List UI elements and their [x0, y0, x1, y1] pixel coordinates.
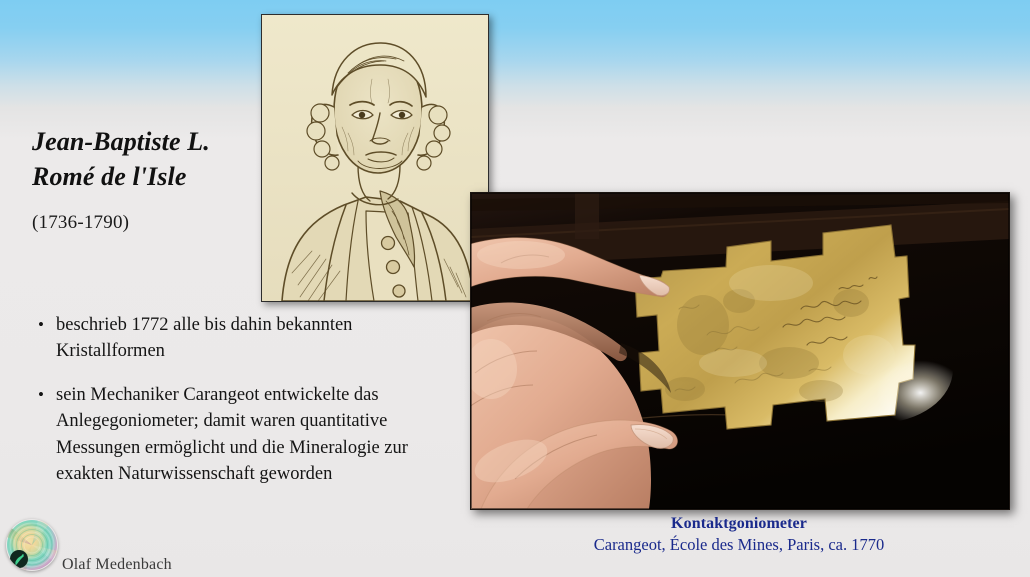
page-title-line1: Jean-Baptiste L.: [32, 124, 292, 159]
photo-caption: Kontaktgoniometer Carangeot, École des M…: [470, 513, 1008, 556]
list-item: • beschrieb 1772 alle bis dahin bekannte…: [34, 312, 434, 365]
logo-graphic: [6, 519, 58, 571]
list-item: • sein Mechaniker Carangeot entwickelte …: [34, 382, 434, 488]
caption-subtitle: Carangeot, École des Mines, Paris, ca. 1…: [470, 534, 1008, 556]
portrait-image: [261, 14, 489, 302]
goniometer-photo: [470, 192, 1010, 510]
caption-title: Kontaktgoniometer: [470, 513, 1008, 534]
list-item-text: sein Mechaniker Carangeot entwickelte da…: [56, 385, 408, 484]
bullet-marker-icon: •: [38, 383, 44, 407]
bullet-list: • beschrieb 1772 alle bis dahin bekannte…: [34, 312, 434, 505]
author-name: Olaf Medenbach: [62, 556, 172, 574]
list-item-text: beschrieb 1772 alle bis dahin bekannten …: [56, 315, 352, 361]
lifespan-text: (1736-1790): [32, 212, 129, 234]
page-title: Jean-Baptiste L. Romé de l'Isle: [32, 124, 292, 195]
slide: Jean-Baptiste L. Romé de l'Isle (1736-17…: [0, 0, 1030, 577]
goniometer-illustration: [471, 193, 1009, 509]
portrait-illustration: [262, 15, 488, 301]
interference-figure-logo-icon: [6, 519, 58, 571]
page-title-line2: Romé de l'Isle: [32, 159, 292, 194]
bullet-marker-icon: •: [38, 313, 44, 337]
